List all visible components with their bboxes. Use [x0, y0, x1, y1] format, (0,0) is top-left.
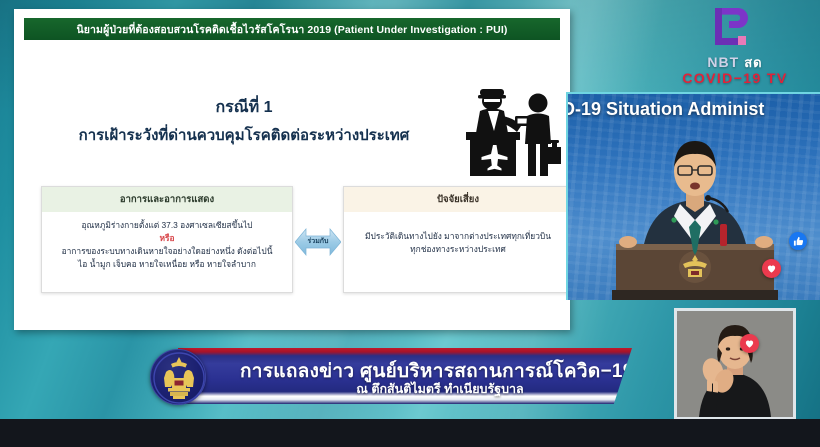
case-number-label: กรณีที่ 1	[44, 95, 444, 120]
symptoms-box-header: อาการและอาการแสดง	[42, 187, 292, 212]
live-badge-label: สด	[744, 55, 762, 70]
slide-title-bar: นิยามผู้ป่วยที่ต้องสอบสวนโรคติดเชื้อไวรั…	[24, 18, 560, 40]
reaction-heart-icon[interactable]	[740, 334, 759, 353]
sign-language-interpreter-panel[interactable]	[674, 308, 796, 420]
risk-channel-line: ทุกช่องทางระหว่างประเทศ	[350, 243, 566, 256]
player-bottom-bar	[0, 419, 820, 447]
covid-tv-label: COVID−19 TV	[660, 70, 810, 86]
symptoms-or-label: หรือ	[48, 232, 286, 245]
interpreter-figure	[677, 311, 793, 417]
presentation-slide: นิยามผู้ป่วยที่ต้องสอบสวนโรคติดเชื้อไวรั…	[14, 9, 570, 330]
risk-travel-line: มีประวัติเดินทางไปยัง มาจากต่างประเทศทุก…	[350, 230, 566, 243]
symptoms-respiratory-line: อาการของระบบทางเดินหายใจอย่างใดอย่างหนึ่…	[48, 245, 286, 258]
news-lower-third-banner: การแถลงข่าว ศูนย์บริหารสถานการณ์โควิด−19…	[150, 348, 632, 410]
risk-box-body: มีประวัติเดินทางไปยัง มาจากต่างประเทศทุก…	[344, 212, 570, 256]
symptoms-list-line: ไอ น้ำมูก เจ็บคอ หายใจเหนื่อย หรือ หายใจ…	[48, 258, 286, 271]
symptoms-box-body: อุณหภูมิร่างกายตั้งแต่ 37.3 องศาเซลเซียส…	[42, 212, 292, 271]
speaker-figure	[568, 94, 820, 300]
slide-title-text: นิยามผู้ป่วยที่ต้องสอบสวนโรคติดเชื้อไวรั…	[77, 21, 508, 38]
risk-box-header: ปัจจัยเสี่ยง	[344, 187, 570, 212]
speaker-video-panel[interactable]: D-19 Situation Administ	[566, 92, 820, 300]
reaction-heart-icon[interactable]	[762, 259, 781, 278]
symptoms-criteria-box: อาการและอาการแสดง อุณหภูมิร่างกายตั้งแต่…	[41, 186, 293, 293]
thai-government-emblem	[150, 349, 206, 405]
nbt-logo: NBTสด COVID−19 TV	[660, 4, 810, 86]
nbt-channel-text: NBT	[707, 54, 739, 70]
reaction-like-icon[interactable]	[789, 232, 807, 250]
risk-factor-box: ปัจจัยเสี่ยง มีประวัติเดินทางไปยัง มาจาก…	[343, 186, 570, 293]
broadcast-screen: นิยามผู้ป่วยที่ต้องสอบสวนโรคติดเชื้อไวรั…	[0, 0, 820, 447]
banner-subline: ณ ตึกสันติไมตรี ทำเนียบรัฐบาล	[240, 379, 640, 399]
case-subtitle: การเฝ้าระวังที่ด่านควบคุมโรคติดต่อระหว่า…	[34, 123, 454, 147]
symptoms-temperature-line: อุณหภูมิร่างกายตั้งแต่ 37.3 องศาเซลเซียส…	[48, 219, 286, 232]
criteria-connector: ร่วมกับ	[295, 222, 341, 262]
connector-label: ร่วมกับ	[295, 236, 341, 247]
immigration-checkpoint-icon	[458, 85, 562, 181]
nbt-logo-mark	[706, 6, 752, 52]
banner-plate: การแถลงข่าว ศูนย์บริหารสถานการณ์โควิด−19…	[178, 348, 632, 404]
program-overlay-title: D-19 Situation Administ	[566, 99, 764, 120]
